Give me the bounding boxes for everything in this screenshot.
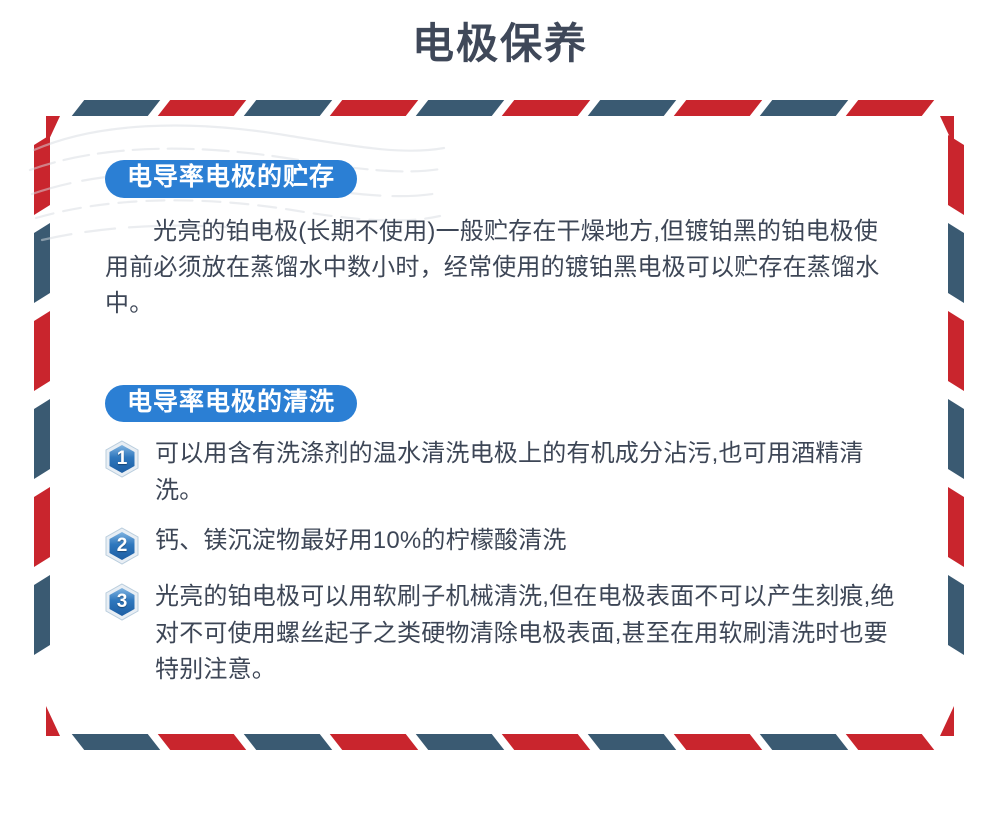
- frame-stripe-bottom: [674, 734, 763, 750]
- section-badge-storage: 电导率电极的贮存: [105, 160, 357, 198]
- frame-stripe-top: [72, 100, 161, 116]
- section-badge-cleaning: 电导率电极的清洗: [105, 385, 357, 423]
- frame-corner-top-right: [940, 116, 954, 146]
- frame-stripe-left: [34, 135, 50, 215]
- frame-stripe-bottom: [330, 734, 419, 750]
- frame-stripe-right: [948, 575, 964, 655]
- section-paragraph-storage: 光亮的铂电极(长期不使用)一般贮存在干燥地方,但镀铂黑的铂电极使用前必须放在蒸馏…: [105, 214, 895, 323]
- step-text: 钙、镁沉淀物最好用10%的柠檬酸清洗: [155, 523, 895, 559]
- frame-stripe-bottom: [72, 734, 161, 750]
- hexagon-number-icon: 1: [105, 440, 139, 478]
- step-text: 光亮的铂电极可以用软刷子机械清洗,但在电极表面不可以产生刻痕,绝对不可使用螺丝起…: [155, 579, 895, 688]
- frame-stripe-top: [846, 100, 935, 116]
- frame-stripe-bottom: [502, 734, 591, 750]
- frame-stripe-left: [34, 487, 50, 567]
- cleaning-steps-list: 1 可以用含有洗涤剂的温水清洗电极上的有机成分沾污,也可用酒精清洗。: [105, 436, 895, 688]
- frame-stripe-left: [34, 399, 50, 479]
- hexagon-number-icon: 2: [105, 527, 139, 565]
- frame-corner-bottom-right: [940, 706, 954, 736]
- frame-stripe-left: [34, 575, 50, 655]
- section-spacer: [105, 323, 895, 385]
- list-item: 3 光亮的铂电极可以用软刷子机械清洗,但在电极表面不可以产生刻痕,绝对不可使用螺…: [105, 579, 895, 688]
- frame-stripe-top: [502, 100, 591, 116]
- frame-stripe-bottom: [158, 734, 247, 750]
- list-item: 2 钙、镁沉淀物最好用10%的柠檬酸清洗: [105, 523, 895, 565]
- frame-stripe-top: [588, 100, 677, 116]
- step-text: 可以用含有洗涤剂的温水清洗电极上的有机成分沾污,也可用酒精清洗。: [155, 436, 895, 509]
- frame-stripe-right: [948, 223, 964, 303]
- frame-stripe-top: [416, 100, 505, 116]
- step-number: 3: [105, 583, 139, 621]
- frame-stripe-top: [760, 100, 849, 116]
- poster-page: 电极保养 电导率电极的贮存 光亮的铂电极(长期不使用)一般贮存在干燥地方,但镀铂…: [0, 0, 1000, 822]
- hexagon-number-icon: 3: [105, 583, 139, 621]
- frame-stripe-bottom: [244, 734, 333, 750]
- section-cleaning: 电导率电极的清洗: [105, 385, 895, 689]
- section-storage: 电导率电极的贮存 光亮的铂电极(长期不使用)一般贮存在干燥地方,但镀铂黑的铂电极…: [105, 160, 895, 323]
- step-number: 1: [105, 440, 139, 478]
- frame-stripe-left: [34, 223, 50, 303]
- frame-stripe-right: [948, 135, 964, 215]
- frame-stripe-right: [948, 487, 964, 567]
- page-title: 电极保养: [0, 18, 1000, 71]
- frame-stripe-left: [34, 311, 50, 391]
- frame-stripe-bottom: [416, 734, 505, 750]
- frame-stripe-right: [948, 399, 964, 479]
- frame-stripe-bottom: [588, 734, 677, 750]
- frame-stripe-bottom: [846, 734, 935, 750]
- step-number: 2: [105, 527, 139, 565]
- frame-stripe-right: [948, 311, 964, 391]
- frame-corner-bottom-left: [46, 706, 60, 736]
- list-item: 1 可以用含有洗涤剂的温水清洗电极上的有机成分沾污,也可用酒精清洗。: [105, 436, 895, 509]
- frame-stripe-top: [244, 100, 333, 116]
- frame-stripe-top: [158, 100, 247, 116]
- content-area: 电导率电极的贮存 光亮的铂电极(长期不使用)一般贮存在干燥地方,但镀铂黑的铂电极…: [105, 160, 895, 703]
- frame-stripe-top: [330, 100, 419, 116]
- frame-stripe-bottom: [760, 734, 849, 750]
- frame-corner-top-left: [46, 116, 60, 146]
- frame-stripe-top: [674, 100, 763, 116]
